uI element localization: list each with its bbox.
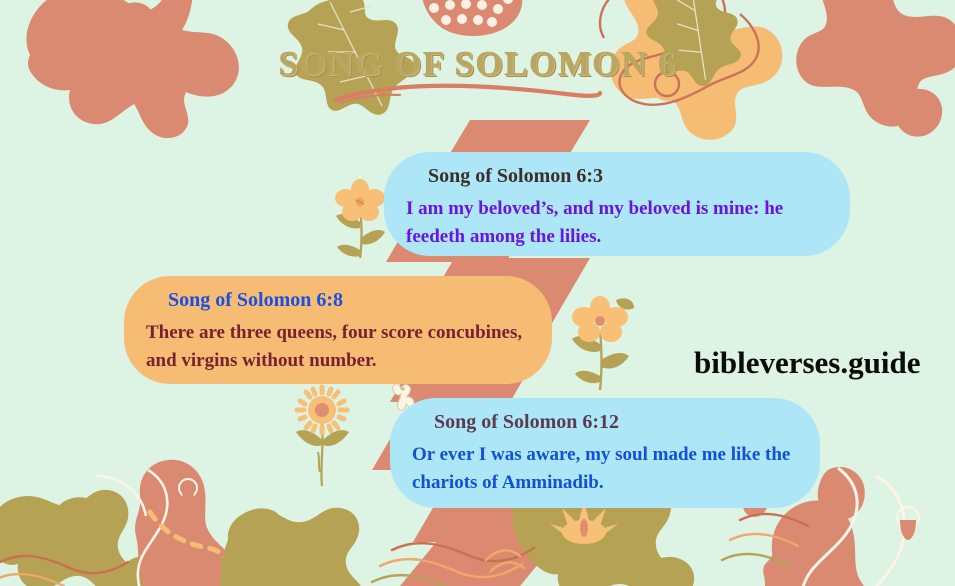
- verse-reference: Song of Solomon 6:8: [168, 288, 530, 313]
- verse-card-1[interactable]: Song of Solomon 6:3 I am my beloved’s, a…: [384, 152, 850, 256]
- verse-text: Or ever I was aware, my soul made me lik…: [412, 441, 798, 496]
- verse-card-2[interactable]: Song of Solomon 6:8 There are three quee…: [124, 276, 552, 384]
- verse-text: I am my beloved’s, and my beloved is min…: [406, 195, 828, 250]
- poster-canvas: SONG OF SOLOMON 6 Song of Solomon 6:3 I …: [0, 0, 955, 586]
- verse-text: There are three queens, four score concu…: [146, 319, 530, 374]
- site-watermark: bibleverses.guide: [694, 345, 920, 381]
- verse-reference: Song of Solomon 6:3: [428, 164, 828, 189]
- verse-reference: Song of Solomon 6:12: [434, 410, 798, 435]
- verse-card-3[interactable]: Song of Solomon 6:12 Or ever I was aware…: [390, 398, 820, 508]
